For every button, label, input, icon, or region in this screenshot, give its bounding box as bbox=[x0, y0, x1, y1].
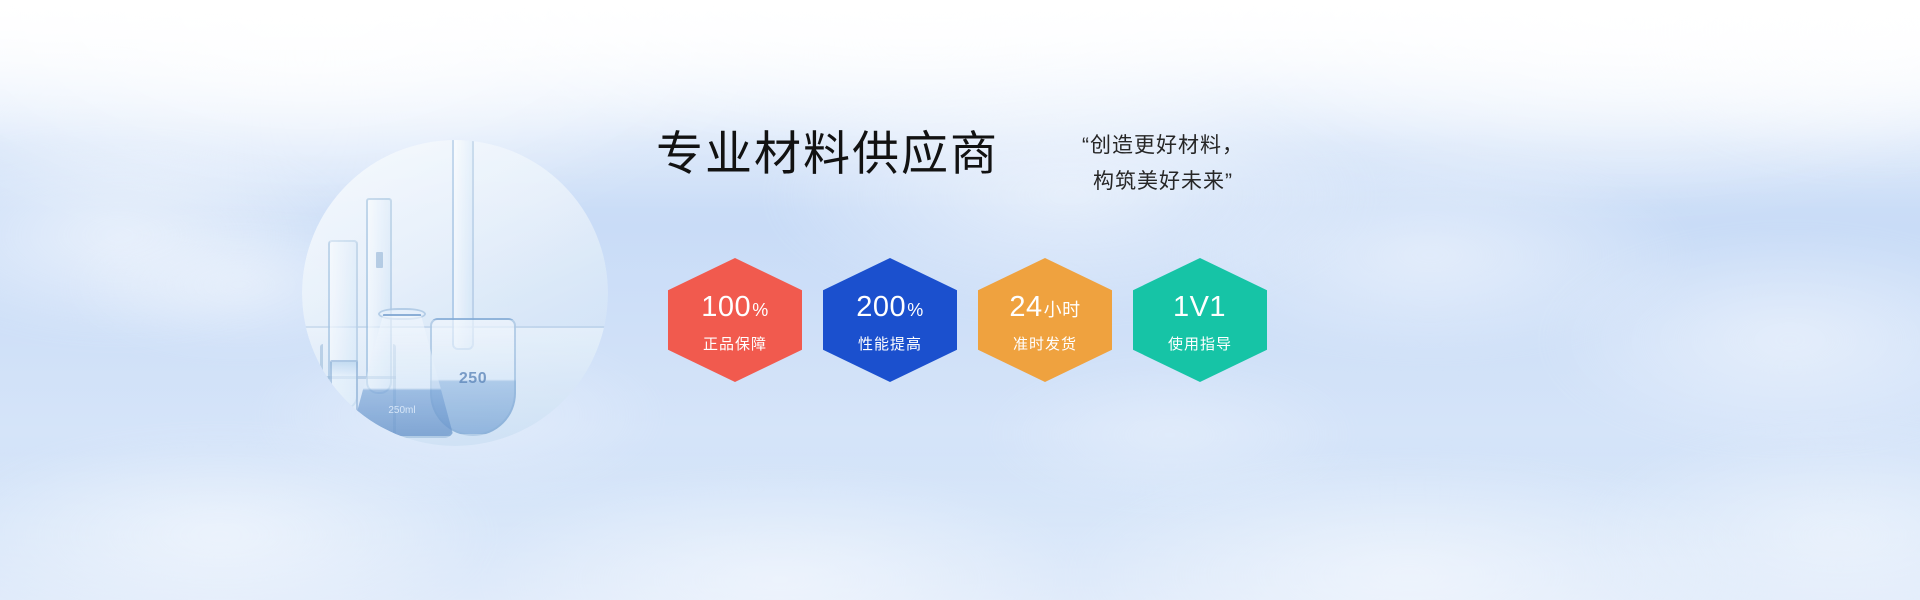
flask-volume-label: 250 bbox=[459, 370, 487, 388]
badge-number: 100 bbox=[701, 293, 751, 322]
bottom-haze-overlay bbox=[0, 450, 1920, 600]
badge-value: 1V1 bbox=[1173, 293, 1227, 322]
badge-number: 24 bbox=[1009, 293, 1042, 322]
badge-caption: 正品保障 bbox=[703, 333, 767, 354]
hero-banner: 250 250ml 专业材料供应商 “创造更好材料， 构筑美好未来” 100% … bbox=[0, 0, 1920, 600]
badge-number: 1V1 bbox=[1173, 293, 1226, 322]
badge-suffix: % bbox=[907, 301, 924, 319]
tagline-line-2: 构筑美好未来” bbox=[1068, 164, 1258, 200]
badge-value: 100% bbox=[701, 293, 768, 322]
badge-performance[interactable]: 200% 性能提高 bbox=[823, 258, 957, 382]
badge-guidance[interactable]: 1V1 使用指导 bbox=[1133, 258, 1267, 382]
badge-suffix: 小时 bbox=[1044, 301, 1081, 319]
lab-photo-content: 250 250ml bbox=[302, 140, 608, 446]
badge-caption: 准时发货 bbox=[1013, 333, 1077, 354]
page-title: 专业材料供应商 bbox=[656, 126, 999, 181]
tagline-quote: “创造更好材料， 构筑美好未来” bbox=[1068, 128, 1258, 200]
badge-caption: 性能提高 bbox=[858, 333, 922, 354]
badge-suffix: % bbox=[752, 301, 769, 319]
badge-number: 200 bbox=[856, 293, 906, 322]
badge-value: 200% bbox=[856, 293, 923, 322]
erlenmeyer-volume-label: 250ml bbox=[388, 405, 415, 416]
badge-shipping[interactable]: 24小时 准时发货 bbox=[978, 258, 1112, 382]
badge-authentic[interactable]: 100% 正品保障 bbox=[668, 258, 802, 382]
badge-caption: 使用指导 bbox=[1168, 333, 1232, 354]
feature-badge-row: 100% 正品保障 200% 性能提高 24小时 准时发货 1V1 使用指导 bbox=[668, 258, 1267, 382]
lab-photo-circle: 250 250ml bbox=[302, 140, 608, 446]
tagline-line-1: “创造更好材料， bbox=[1068, 128, 1258, 164]
sample-vial-icon bbox=[330, 360, 358, 418]
badge-value: 24小时 bbox=[1009, 293, 1080, 322]
